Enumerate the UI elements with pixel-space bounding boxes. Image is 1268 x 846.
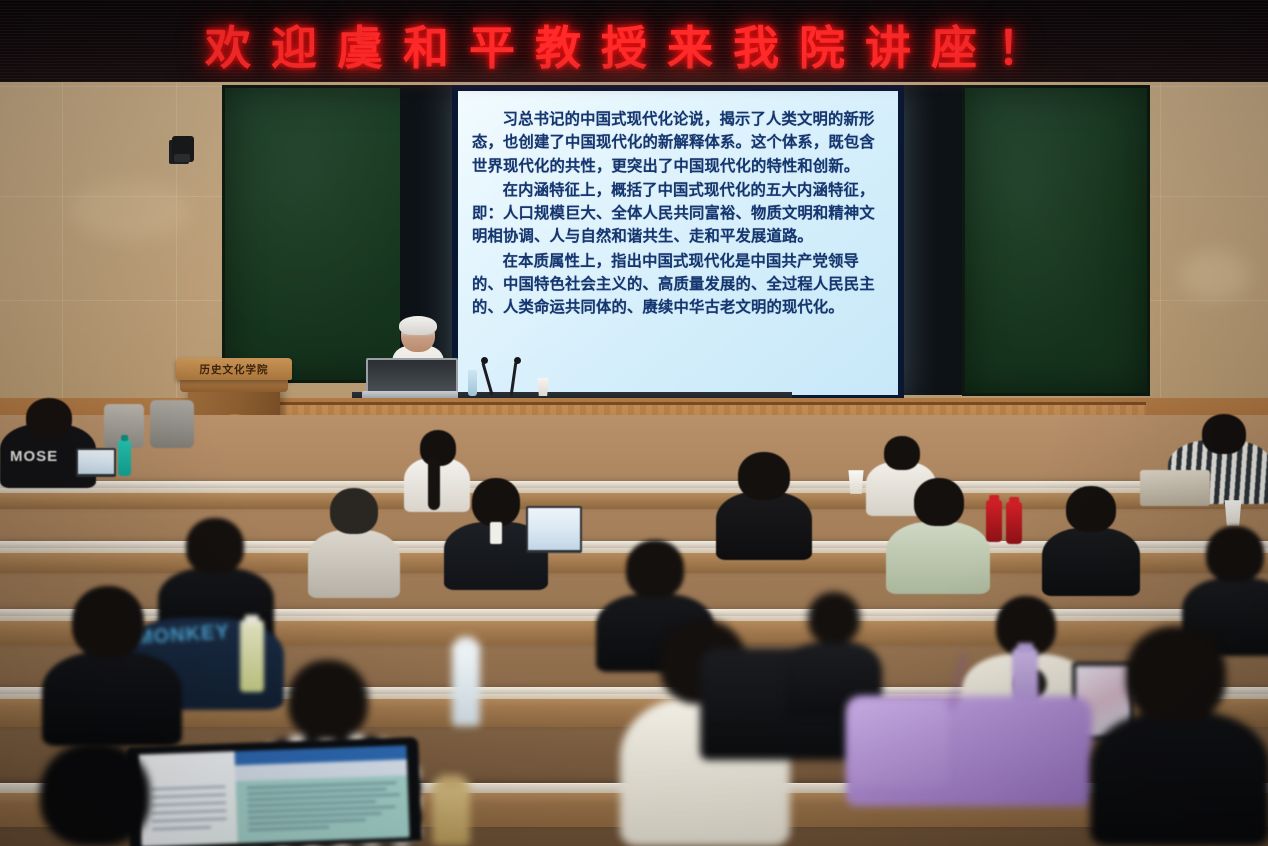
ponytail — [428, 456, 440, 510]
audience-torso — [886, 522, 990, 594]
audience-torso — [42, 652, 182, 746]
presenter-hair — [399, 316, 437, 335]
audience-head — [914, 478, 964, 526]
microphone-head-2 — [514, 357, 521, 364]
audience-head — [808, 592, 860, 644]
desk-surface-right — [1140, 470, 1210, 506]
audience-member-fg-right — [1090, 626, 1268, 846]
presenter-laptop — [362, 358, 458, 402]
audience-torso — [1042, 528, 1140, 596]
clear-water-bottle — [452, 642, 480, 726]
audience-head — [40, 742, 150, 846]
chalkboard-track-right — [895, 85, 965, 395]
audience-head — [1202, 414, 1246, 454]
audience-head — [330, 488, 378, 534]
wall-mounted-speaker-icon — [172, 136, 194, 162]
audience-head — [1066, 486, 1116, 532]
purple-backpack-pocket — [850, 700, 948, 786]
teal-water-bottle — [118, 440, 131, 476]
department-plaque: 历史文化学院 — [176, 358, 292, 380]
audience-head — [186, 518, 244, 574]
audience-head — [1126, 626, 1226, 722]
slide-paragraph-1: 习总书记的中国式现代化论说，揭示了人类文明的新形态，也创建了中国现代化的新解释体… — [472, 108, 884, 178]
audience-head — [472, 478, 520, 526]
slide-content: 习总书记的中国式现代化论说，揭示了人类文明的新形态，也创建了中国现代化的新解释体… — [458, 91, 898, 395]
slide-paragraph-3: 在本质属性上，指出中国式现代化是中国共产党领导的、中国特色社会主义的、高质量发展… — [472, 250, 884, 320]
coca-cola-bottle-1 — [986, 500, 1002, 542]
presenter-water-bottle — [468, 370, 477, 396]
audience-head — [884, 436, 920, 470]
audience-member-r3-a — [716, 452, 812, 560]
audience-head — [738, 452, 790, 500]
audience-torso — [716, 492, 812, 560]
banner-glow — [150, 64, 1130, 90]
microphone-head-1 — [481, 357, 488, 364]
department-plaque-text: 历史文化学院 — [200, 362, 269, 377]
projection-screen: 习总书记的中国式现代化论说，揭示了人类文明的新形态，也创建了中国现代化的新解释体… — [452, 85, 904, 401]
coca-cola-bottle-2 — [1006, 502, 1022, 544]
audience-member-cap — [308, 488, 400, 598]
shirt-text-mose: MOSE — [10, 448, 58, 465]
audience-head — [72, 586, 144, 658]
chalkboard-right — [962, 85, 1150, 396]
slide-paragraph-2: 在内涵特征上，概括了中国式现代化的五大内涵特征，即：人口规模巨大、全体人民共同富… — [472, 179, 884, 249]
audience-torso — [308, 530, 400, 598]
audience-laptop-back — [76, 448, 116, 477]
audience-member-fg-left — [42, 586, 182, 746]
audience-head — [1206, 526, 1264, 582]
audience-head — [626, 540, 684, 598]
audience-member-green-jacket — [886, 478, 990, 594]
audience-member-r3-right — [1042, 486, 1140, 596]
audience-laptop-suit — [526, 506, 582, 553]
chair-back-2 — [150, 400, 194, 448]
shirt-collar — [490, 522, 502, 544]
audience-head — [26, 398, 72, 438]
audience-torso — [1090, 712, 1268, 846]
lecture-hall-photo: 习总书记的中国式现代化论说，揭示了人类文明的新形态，也创建了中国现代化的新解释体… — [0, 0, 1268, 846]
audience-member-foreground-laptop-user — [40, 742, 190, 846]
audience-head — [288, 660, 368, 740]
gold-thermos — [432, 780, 470, 846]
